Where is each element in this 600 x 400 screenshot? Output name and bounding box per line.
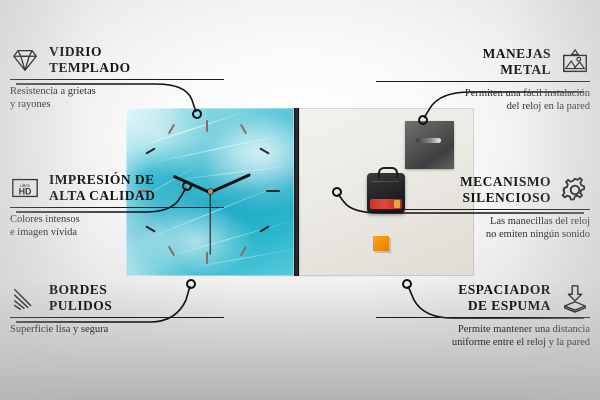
divider bbox=[10, 317, 224, 318]
feature-description: Permiten una fácil instalación del reloj… bbox=[376, 87, 590, 113]
feature-description: Colores intensos e imagen vívida bbox=[10, 213, 224, 239]
feature-vidrio-templado: VIDRIO TEMPLADO Resistencia a grietas y … bbox=[10, 44, 224, 111]
feature-manejas-metal: MANEJAS METAL Permiten una fácil instala… bbox=[376, 46, 590, 113]
feature-mecanismo-silencioso: MECANISMO SILENCIOSO Las manecillas del … bbox=[376, 174, 590, 241]
feature-title: MECANISMO SILENCIOSO bbox=[460, 174, 551, 205]
feature-title: BORDES PULIDOS bbox=[49, 282, 112, 313]
diamond-icon bbox=[10, 45, 40, 75]
feature-bordes-pulidos: BORDES PULIDOS Superficie lisa y segura bbox=[10, 282, 224, 336]
svg-text:HD: HD bbox=[19, 186, 32, 196]
picture-hanger-icon bbox=[560, 47, 590, 77]
feature-title: IMPRESIÓN DE ALTA CALIDAD bbox=[49, 172, 155, 203]
feature-description: Resistencia a grietas y rayones bbox=[10, 85, 224, 111]
feature-impresion-alta-calidad: ultra HD IMPRESIÓN DE ALTA CALIDAD Color… bbox=[10, 172, 224, 239]
feature-title: MANEJAS METAL bbox=[483, 46, 551, 77]
callout-dot-mecanismo bbox=[332, 187, 342, 197]
infographic-canvas: VIDRIO TEMPLADO Resistencia a grietas y … bbox=[0, 0, 600, 400]
callout-dot-manejas bbox=[418, 115, 428, 125]
feature-title: ESPACIADOR DE ESPUMA bbox=[458, 282, 551, 313]
divider bbox=[10, 79, 224, 80]
feature-title: VIDRIO TEMPLADO bbox=[49, 44, 131, 75]
divider bbox=[376, 317, 590, 318]
divider bbox=[376, 209, 590, 210]
feature-description: Las manecillas del reloj no emiten ningú… bbox=[376, 215, 590, 241]
feature-description: Superficie lisa y segura bbox=[10, 323, 224, 336]
feature-description: Permite mantener una distancia uniforme … bbox=[376, 323, 590, 349]
polished-edges-icon bbox=[10, 283, 40, 313]
metal-hanger-plate bbox=[405, 121, 454, 169]
feature-espaciador-espuma: ESPACIADOR DE ESPUMA Permite mantener un… bbox=[376, 282, 590, 349]
foam-spacer-icon bbox=[560, 283, 590, 313]
divider bbox=[376, 81, 590, 82]
divider bbox=[10, 207, 224, 208]
ultra-hd-icon: ultra HD bbox=[10, 173, 40, 203]
gear-icon bbox=[560, 175, 590, 205]
